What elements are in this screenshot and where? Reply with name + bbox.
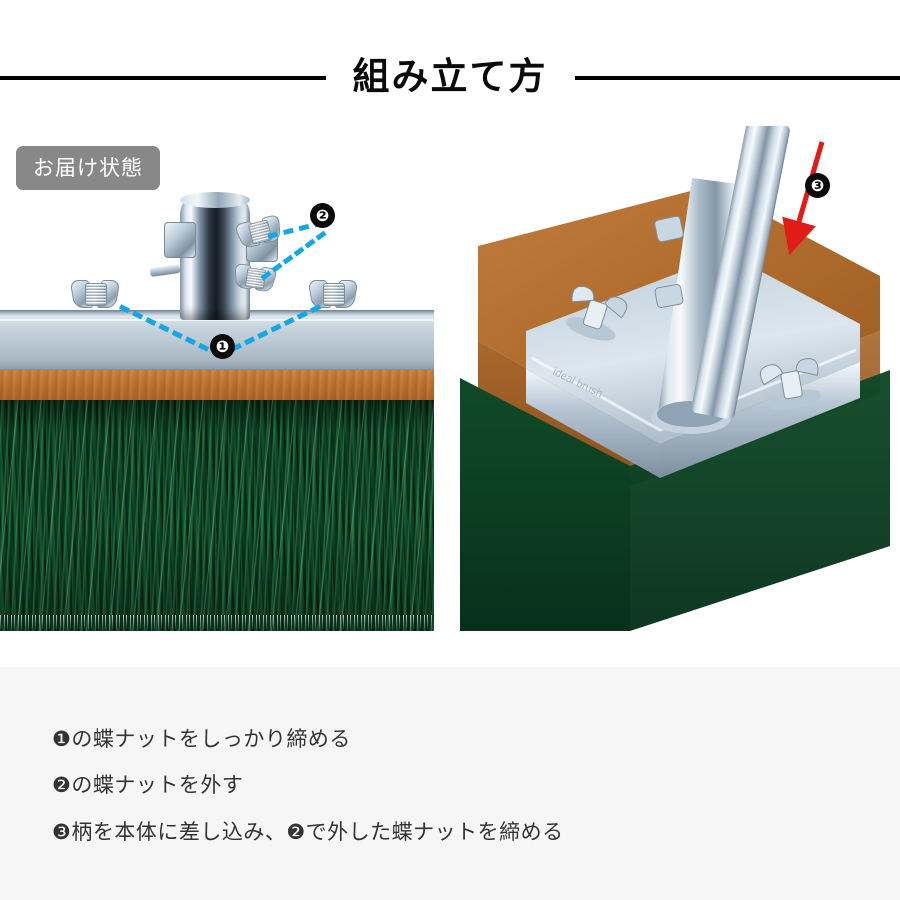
socket-tube-rim (180, 192, 250, 208)
wing-nut-tube-lower (234, 261, 277, 292)
green-bristles-left (0, 400, 434, 631)
photo-handle-insertion: ideal brush (460, 126, 900, 631)
wing-nut-bar-right (310, 278, 356, 308)
wooden-block-left (0, 370, 434, 402)
insertion-arrow-icon (760, 136, 880, 276)
wing-nut-hub (85, 283, 107, 306)
socket-tube (180, 198, 250, 320)
tube-clamp-left (164, 222, 196, 258)
bristle-tips-left (0, 615, 434, 631)
tube-bolt-left (150, 264, 181, 277)
wing-nut-bar-left (72, 278, 118, 308)
instructions-panel: ❶の蝶ナットをしっかり締める ❷の蝶ナットを外す ❸柄を本体に差し込み、❷で外し… (0, 667, 900, 900)
wing-nut-hub (780, 370, 802, 399)
wing-nut-hub (323, 283, 345, 306)
instruction-line-1: ❶の蝶ナットをしっかり締める (52, 724, 351, 754)
page-header: 組み立て方 (0, 0, 900, 118)
callout-badge-1: ❶ (210, 334, 235, 359)
callout-badge-3: ❸ (805, 173, 830, 198)
right-photo-stage: ideal brush (460, 126, 900, 631)
sleeve-clamp-upper-left (654, 216, 684, 243)
instruction-line-3: ❸柄を本体に差し込み、❷で外した蝶ナットを締める (52, 817, 564, 847)
callout-badge-2: ❷ (310, 203, 335, 228)
photo-delivery-state: ❶ ❷ お届け状態 (0, 126, 434, 631)
instruction-line-2: ❷の蝶ナットを外す (52, 770, 243, 800)
page-title: 組み立て方 (0, 53, 900, 101)
delivery-state-badge: お届け状態 (16, 146, 160, 190)
photo-strip: ❶ ❷ お届け状態 (0, 126, 900, 631)
sleeve-clamp-lower-left (654, 284, 683, 308)
